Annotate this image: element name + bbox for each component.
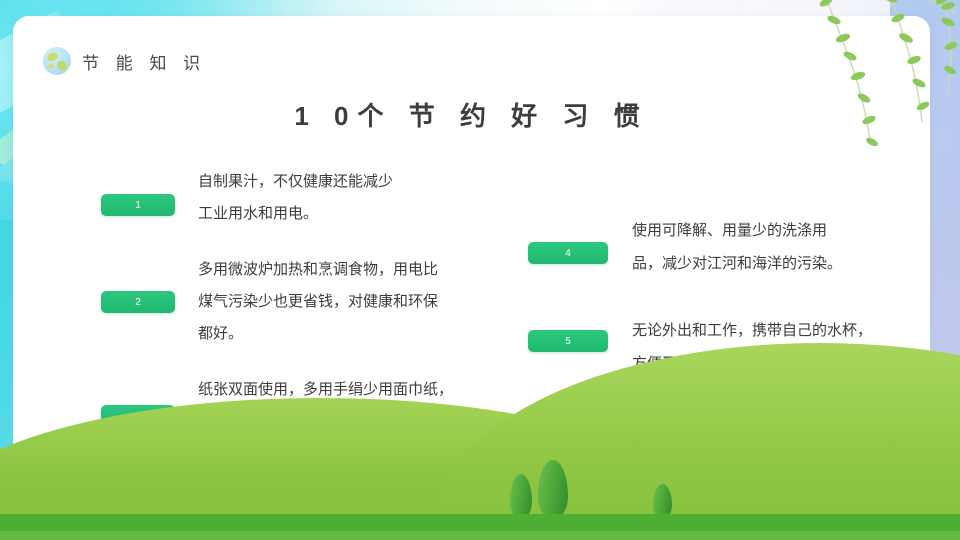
tree-small-icon (510, 474, 532, 518)
tip-text: 自制果汁，不仅健康还能减少 工业用水和用电。 (198, 166, 521, 230)
willow-vine-icon (790, 0, 960, 188)
tree-tiny-icon (653, 484, 672, 518)
tip-number-badge: 2 (101, 291, 175, 313)
tip-text: 使用可降解、用量少的洗涤用 品，减少对江河和海洋的污染。 (632, 214, 948, 280)
slide-canvas: 节 能 知 识 1 0个 节 约 好 习 惯 1 自制果汁，不仅健康还能减少 工… (0, 0, 960, 540)
globe-icon (43, 47, 71, 75)
tip-number-badge: 5 (528, 330, 608, 352)
tip-number-badge: 4 (528, 242, 608, 264)
bottom-scenery (0, 420, 960, 540)
tip-text: 多用微波炉加热和烹调食物，用电比 煤气污染少也更省钱，对健康和环保 都好。 (198, 254, 521, 350)
ground-band-shade (0, 531, 960, 540)
globe-icon-landmass (48, 64, 54, 69)
list-item: 4 使用可降解、用量少的洗涤用 品，减少对江河和海洋的污染。 (528, 214, 948, 280)
header-title: 节 能 知 识 (82, 49, 206, 74)
list-item: 1 自制果汁，不仅健康还能减少 工业用水和用电。 (101, 166, 521, 230)
list-item: 2 多用微波炉加热和烹调食物，用电比 煤气污染少也更省钱，对健康和环保 都好。 (101, 254, 521, 350)
tree-large-icon (538, 460, 568, 518)
tip-number-badge: 1 (101, 194, 175, 216)
header: 节 能 知 识 (43, 47, 206, 75)
